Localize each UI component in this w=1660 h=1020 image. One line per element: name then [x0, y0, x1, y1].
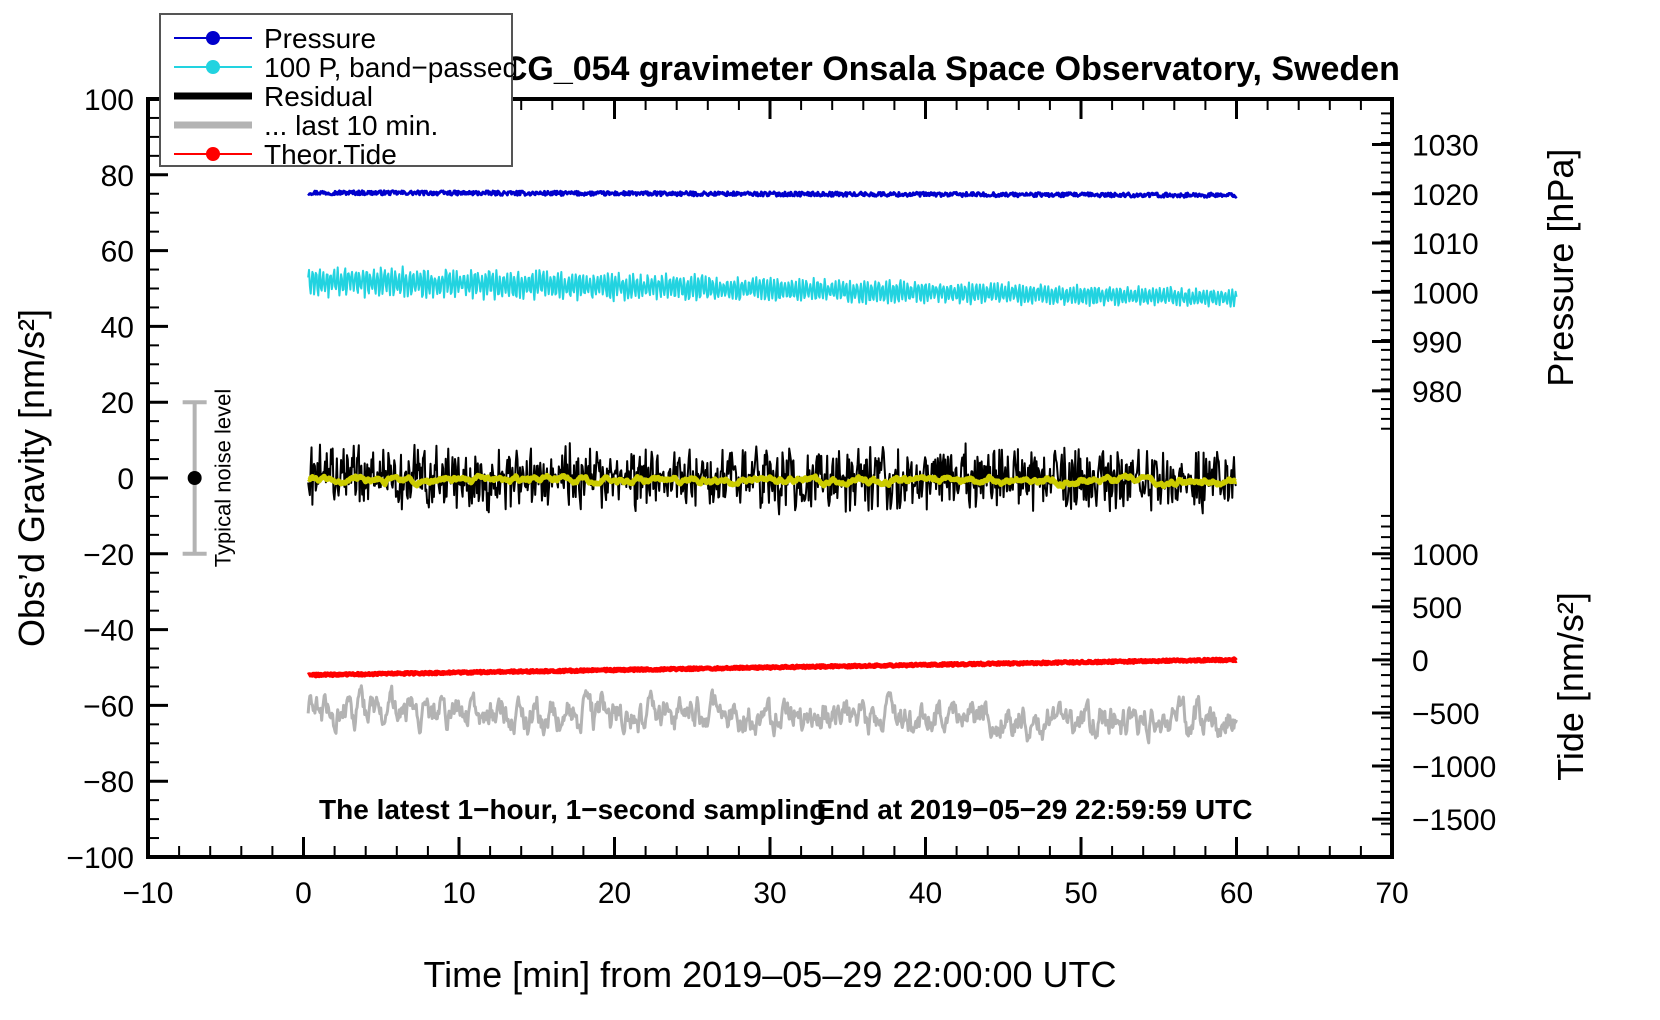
y-tick-label: −80 [83, 766, 134, 799]
typical-noise-level-annotation: Typical noise level [183, 389, 236, 568]
legend-marker-dot [206, 60, 220, 74]
chart-title: SCG_054 gravimeter Onsala Space Observat… [480, 50, 1400, 88]
x-tick-label: 50 [1064, 877, 1097, 910]
tide-tick-label: 0 [1412, 645, 1429, 678]
x-tick-label: 0 [295, 877, 312, 910]
y-tick-label: 0 [117, 463, 134, 496]
x-axis-title: Time [min] from 2019–05–29 22:00:00 UTC [423, 954, 1116, 995]
y-axis-right-pressure: 1030102010101000990980 [1372, 113, 1479, 428]
legend-marker-dot [206, 31, 220, 45]
legend[interactable]: Pressure100 P, band−passedResidual... la… [160, 14, 518, 170]
y-tick-label: 20 [101, 387, 134, 420]
x-tick-label: 70 [1375, 877, 1408, 910]
pressure-tick-label: 1000 [1412, 277, 1479, 310]
pressure-tick-label: 980 [1412, 376, 1462, 409]
tide-tick-label: −1000 [1412, 751, 1496, 784]
noise-center-dot [188, 471, 202, 485]
sampling-note: The latest 1−hour, 1−second sampling [319, 794, 826, 825]
tide-tick-label: 500 [1412, 592, 1462, 625]
x-tick-label: −10 [123, 877, 174, 910]
y-tick-label: 100 [84, 84, 134, 117]
pressure-tick-label: 990 [1412, 327, 1462, 360]
x-tick-label: 30 [753, 877, 786, 910]
end-time-note: End at 2019−05−29 22:59:59 UTC [817, 794, 1253, 825]
x-tick-label: 20 [598, 877, 631, 910]
y-tick-label: 60 [101, 236, 134, 269]
x-tick-label: 60 [1220, 877, 1253, 910]
y-tick-label: −20 [83, 539, 134, 572]
tide-tick-label: 1000 [1412, 539, 1479, 572]
legend-label: ... last 10 min. [264, 110, 438, 141]
legend-marker-dot [206, 147, 220, 161]
series-band_passed [308, 266, 1236, 306]
gravimeter-timeseries-chart: −10010203040506070Time [min] from 2019–0… [0, 0, 1660, 1020]
series-pressure [308, 191, 1236, 197]
pressure-tick-label: 1030 [1412, 129, 1479, 162]
y-axis-title: Obs’d Gravity [nm/s²] [11, 309, 52, 647]
legend-label: Residual [264, 81, 373, 112]
tide-tick-label: −500 [1412, 698, 1480, 731]
legend-label: Pressure [264, 23, 376, 54]
tide-tick-label: −1500 [1412, 804, 1496, 837]
pressure-tick-label: 1010 [1412, 228, 1479, 261]
legend-label: Theor.Tide [264, 139, 397, 170]
chart-page: −10010203040506070Time [min] from 2019–0… [0, 0, 1660, 1020]
x-tick-label: 40 [909, 877, 942, 910]
x-axis: −10010203040506070 [123, 99, 1409, 910]
noise-annotation-label: Typical noise level [211, 389, 236, 568]
legend-label: 100 P, band−passed [264, 52, 518, 83]
y-axis-left: −100−80−60−40−20020406080100 [66, 84, 168, 875]
y-tick-label: −100 [66, 842, 134, 875]
pressure-tick-label: 1020 [1412, 179, 1479, 212]
x-tick-label: 10 [442, 877, 475, 910]
tide-axis-title: Tide [nm/s²] [1550, 592, 1591, 781]
y-tick-label: −40 [83, 615, 134, 648]
y-tick-label: 40 [101, 311, 134, 344]
y-tick-label: −60 [83, 690, 134, 723]
pressure-axis-title: Pressure [hPa] [1540, 149, 1581, 387]
series-last10 [308, 686, 1236, 743]
y-tick-label: 80 [101, 160, 134, 193]
series-theor_tide [308, 659, 1236, 676]
